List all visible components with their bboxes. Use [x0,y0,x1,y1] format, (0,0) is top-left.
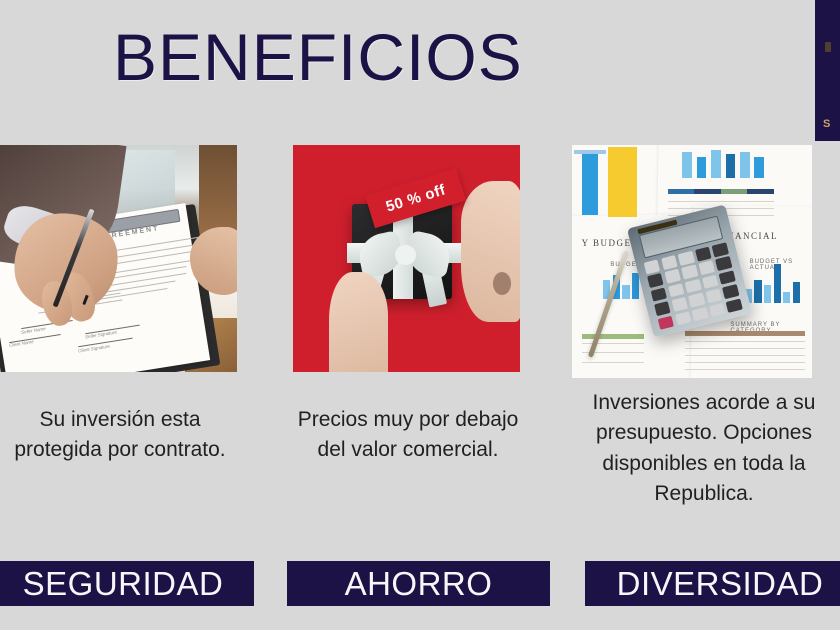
card-2-caption: Precios muy por debajo del valor comerci… [292,405,524,466]
card-3-photo: FINANCIAL Y BUDGET BUDGET VS ACTUAL BUDG… [572,145,812,378]
corner-badge: S [815,0,840,141]
card-1-photo: AGREEMENT Seller Name Seller Signature C… [0,145,237,372]
card-1-label: SEGURIDAD [23,565,224,603]
page-title: BENEFICIOS [113,24,523,90]
card-2-photo: 50 % off [293,145,520,372]
card-3-label-bar: DIVERSIDAD [585,561,840,606]
card-3-caption: Inversiones acorde a su presupuesto. Opc… [570,388,838,510]
card-1-label-bar: SEGURIDAD [0,561,254,606]
card-2-label: AHORRO [345,565,493,603]
card-3-label: DIVERSIDAD [617,565,824,603]
corner-mark-icon [825,42,831,52]
corner-badge-text: S [823,118,831,130]
card-2-label-bar: AHORRO [287,561,550,606]
card-1-caption: Su inversión esta protegida por contrato… [0,405,240,466]
slide-canvas: S BENEFICIOS AGREEMENT Seller Name [0,0,840,630]
